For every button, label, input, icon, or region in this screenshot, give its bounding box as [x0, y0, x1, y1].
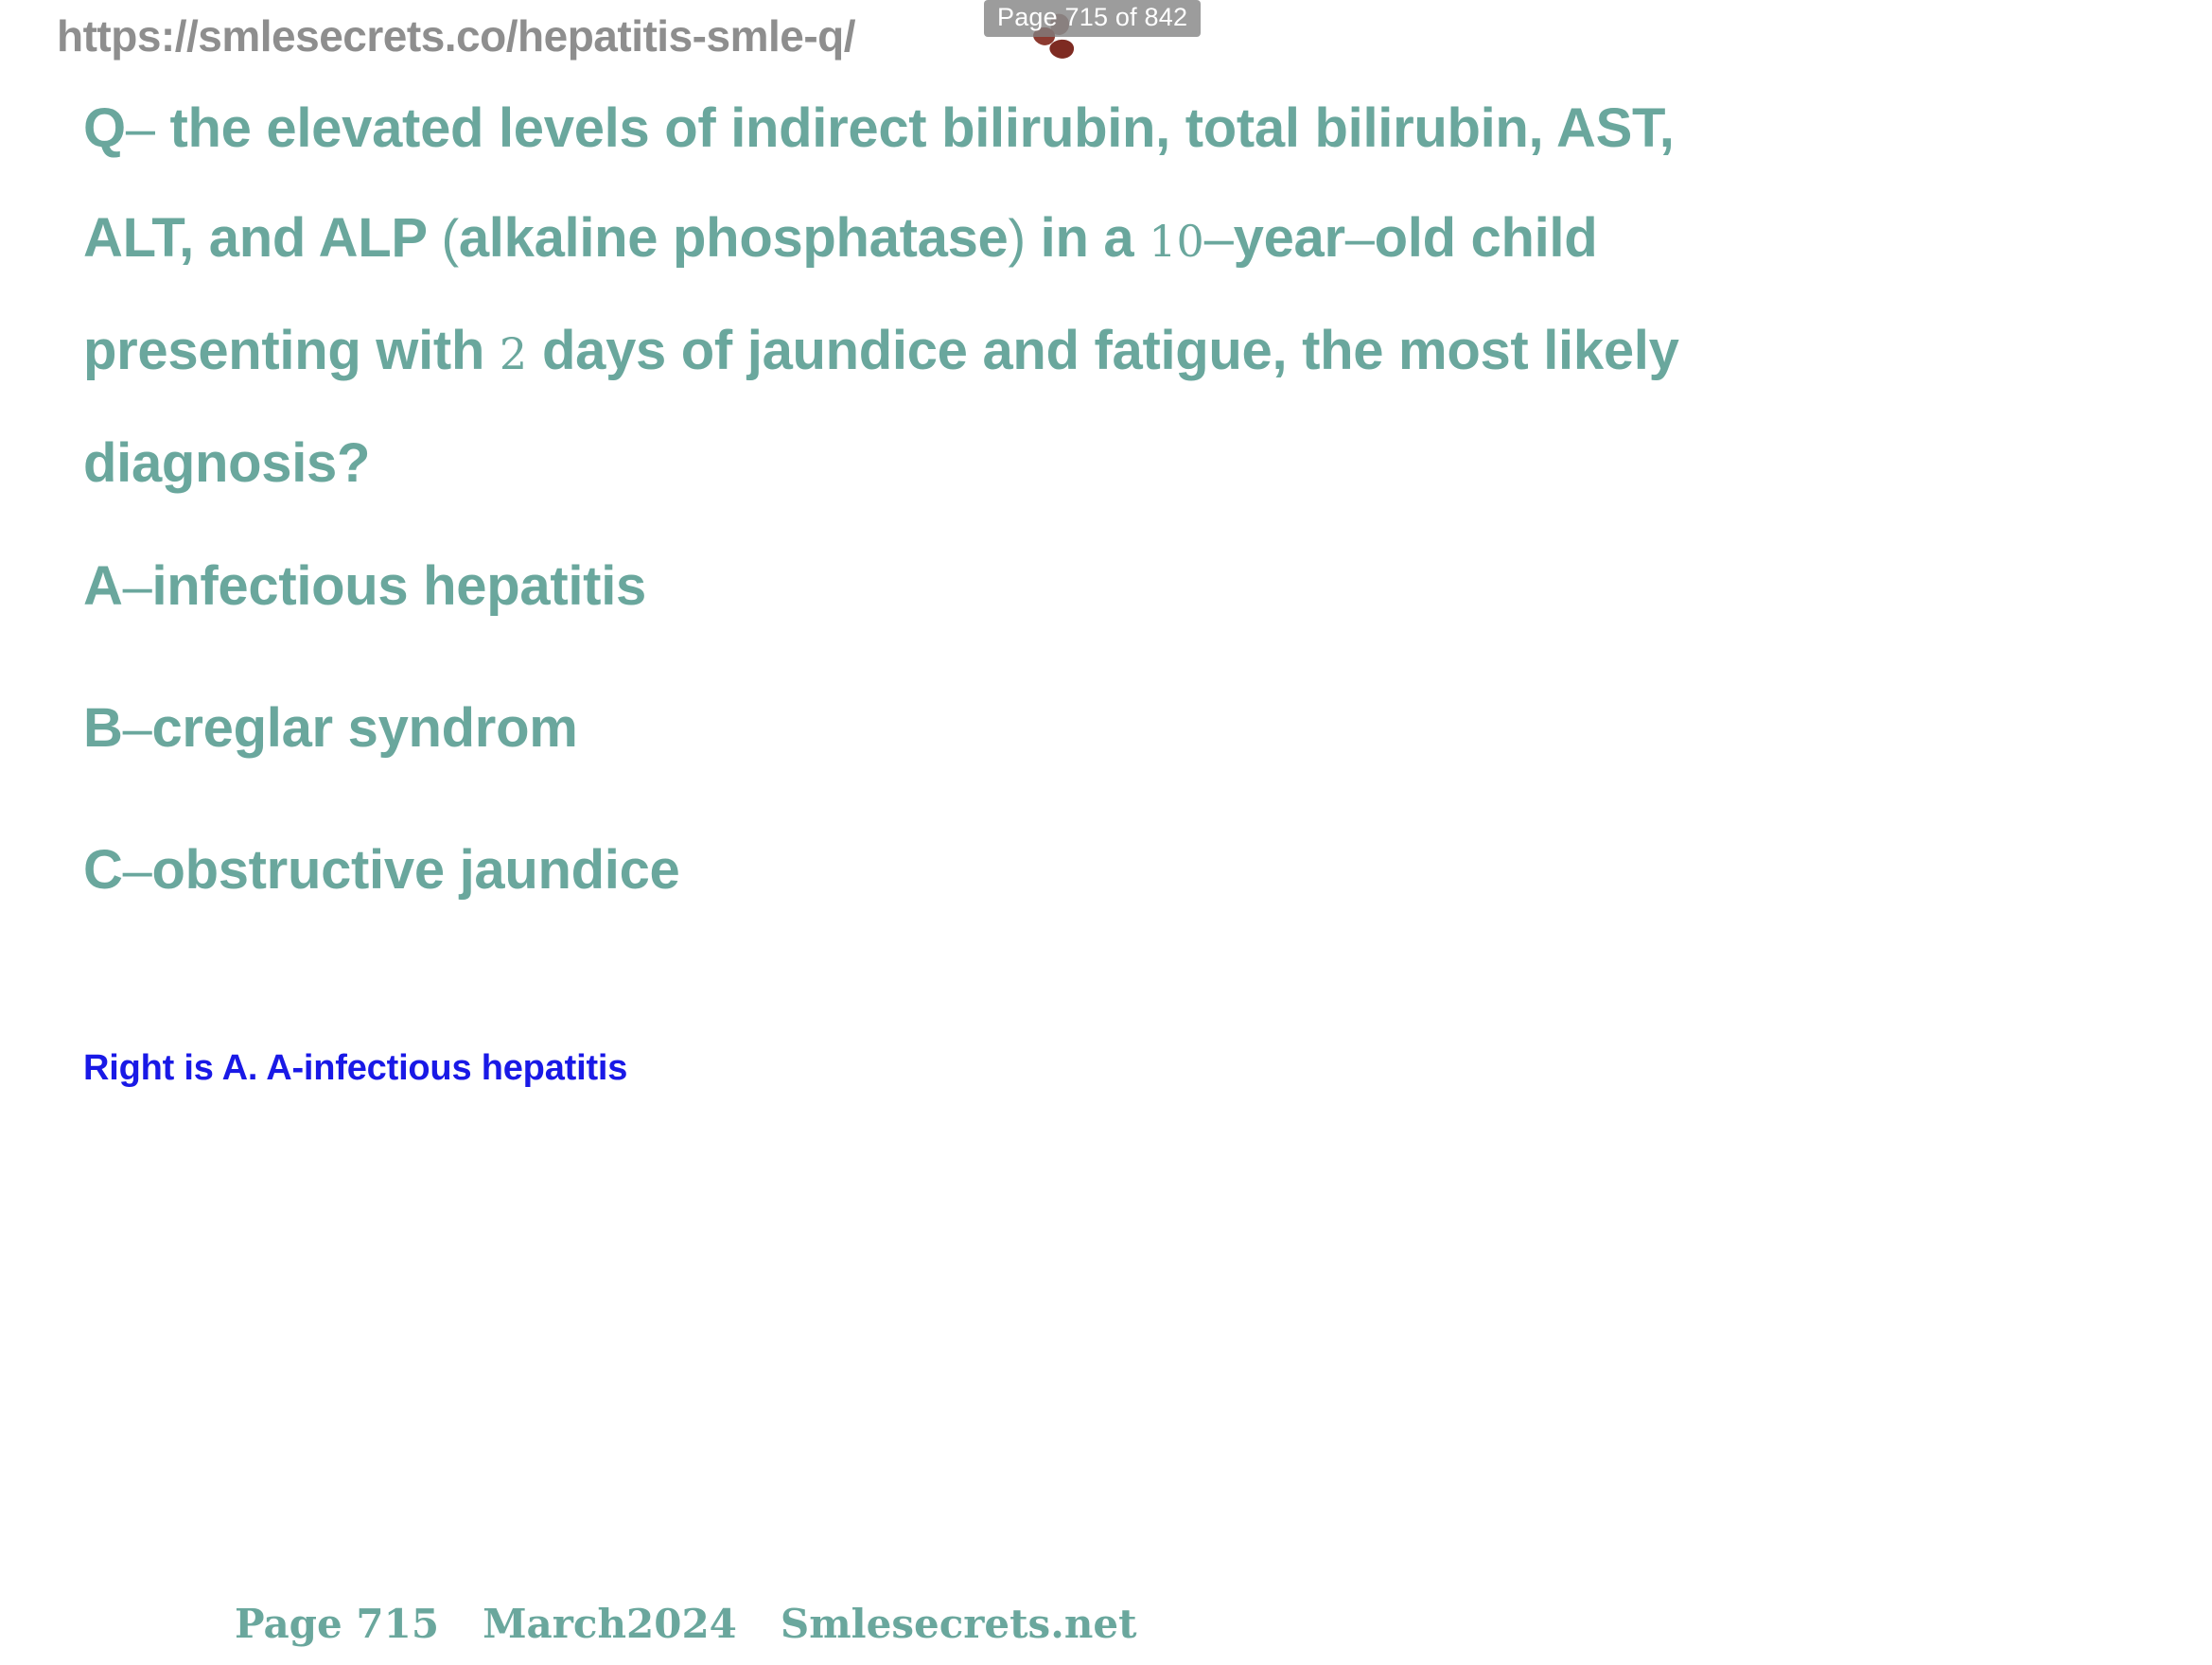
paren-close: ) [1009, 208, 1026, 268]
option-b-letter: B [83, 697, 123, 759]
footer-date: March2024 [483, 1601, 737, 1647]
option-b-dash: – [123, 698, 152, 758]
question-line-2-d: year [1234, 207, 1345, 269]
option-a-text: infectious hepatitis [151, 555, 646, 617]
option-c-text: obstructive jaundice [151, 839, 679, 901]
question-line-4-text: diagnosis? [83, 432, 370, 494]
question-line-2-a: ALT, and ALP [83, 207, 441, 269]
question-line-3-b: days of jaundice and fatigue, the most l… [527, 320, 1678, 381]
question-line-2-c: in a [1026, 207, 1149, 269]
question-line-3: presenting with 2 days of jaundice and f… [0, 296, 2212, 409]
age-number: 10 [1149, 216, 1204, 267]
paren-open: ( [441, 208, 458, 268]
question-line-1-text: the elevated levels of indirect bilirubi… [155, 97, 1675, 159]
question-line-4: diagnosis? [0, 409, 2212, 518]
question-line-2-b: alkaline phosphatase [459, 207, 1009, 269]
days-number: 2 [500, 328, 527, 379]
question-dash: – [126, 98, 155, 158]
option-b-text: creglar syndrom [151, 697, 577, 759]
option-c-letter: C [83, 839, 123, 901]
option-b[interactable]: B–creglar syndrom [0, 698, 2212, 759]
question-line-2: ALT, and ALP (alkaline phosphatase) in a… [0, 184, 2212, 296]
question-label: Q [83, 97, 126, 159]
url-text: https://smlesecrets.co/hepatitis-smle-q [57, 10, 844, 61]
page-indicator-badge: Page 715 of 842 [984, 0, 1201, 37]
answer-key: Right is A. A-infectious hepatitis [83, 1048, 627, 1089]
question-line-2-e: old child [1375, 207, 1598, 269]
option-c-dash: – [123, 840, 152, 900]
option-a-dash: – [123, 556, 152, 616]
page-footer: Page 715 March2024 Smlesecrets.net [235, 1601, 1136, 1647]
footer-site: Smlesecrets.net [781, 1601, 1137, 1647]
age-dash-1: – [1204, 208, 1234, 268]
footer-page-number: Page 715 [235, 1601, 439, 1647]
url-display: https://smlesecrets.co/hepatitis-smle-q … [57, 8, 856, 64]
question-line-1: Q– the elevated levels of indirect bilir… [0, 74, 2212, 184]
option-c[interactable]: C–obstructive jaundice [0, 840, 2212, 901]
url-text-suffix: / [844, 10, 856, 61]
option-a[interactable]: A–infectious hepatitis [0, 556, 2212, 617]
question-block: Q– the elevated levels of indirect bilir… [0, 74, 2212, 518]
options-list: A–infectious hepatitis B–creglar syndrom… [0, 556, 2212, 982]
question-line-3-a: presenting with [83, 320, 500, 381]
age-dash-2: – [1345, 208, 1375, 268]
option-a-letter: A [83, 555, 123, 617]
